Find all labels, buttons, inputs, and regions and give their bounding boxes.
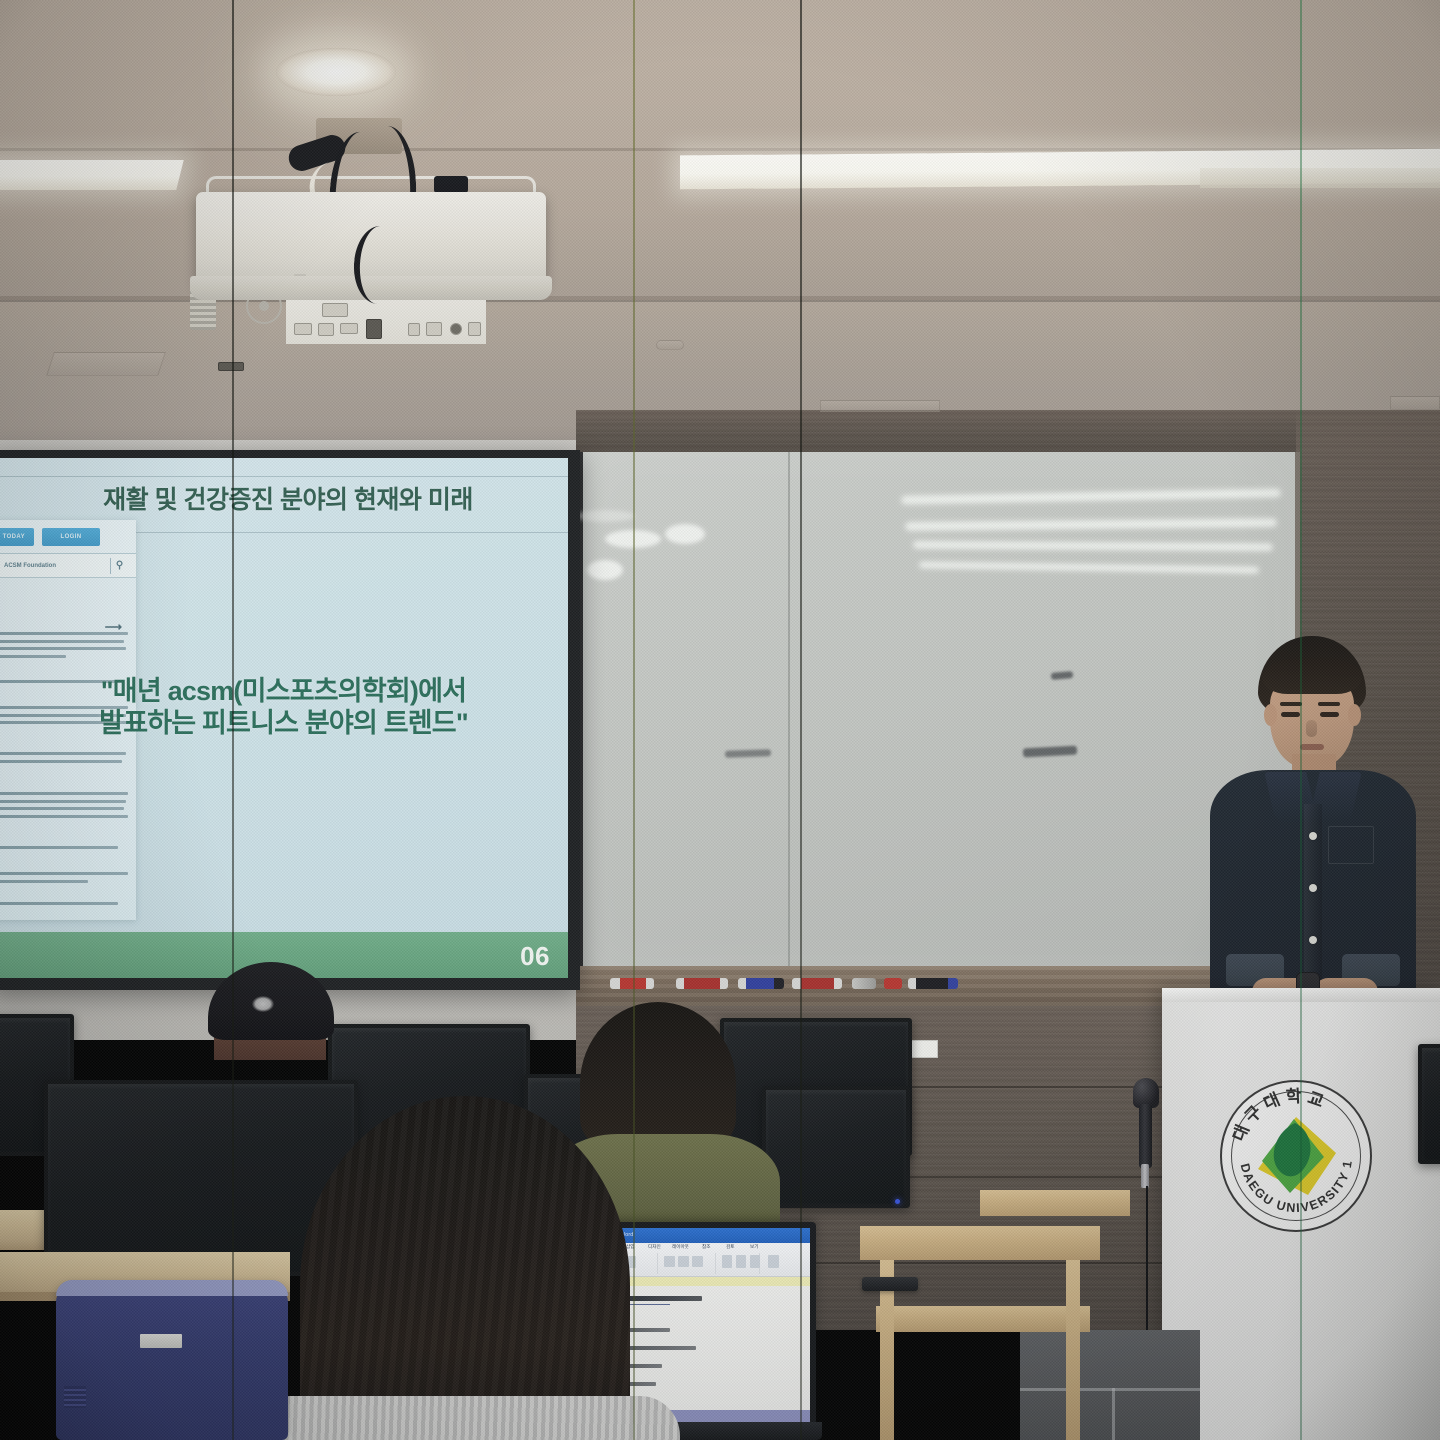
whiteboard-glare-2 <box>665 524 705 544</box>
ribbon-replace-icon[interactable] <box>750 1255 760 1268</box>
presenter-brow-right <box>1318 702 1340 706</box>
presenter-eye-left <box>1281 712 1300 717</box>
recessed-downlight <box>276 48 396 96</box>
port-lan <box>318 323 334 336</box>
microphone-tip <box>1141 1164 1149 1188</box>
ribbon-find-icon[interactable] <box>736 1255 746 1268</box>
cap-logo-icon <box>252 996 274 1012</box>
monitor-power-led <box>895 1199 900 1204</box>
projector-cable-plug <box>434 176 468 193</box>
ribbon-styles-icon[interactable] <box>722 1255 732 1268</box>
port-hdmi-2 <box>340 323 358 334</box>
smartphone-on-desk[interactable] <box>862 1277 918 1291</box>
microphone-body[interactable] <box>1139 1104 1152 1168</box>
marker-blue-1[interactable] <box>738 978 784 989</box>
slide-page-number: 06 <box>520 941 550 972</box>
light-reflection-wave-2 <box>905 518 1277 531</box>
chair-label-sticker <box>140 1334 182 1348</box>
port-usb-1 <box>294 323 312 335</box>
presenter <box>1196 636 1428 1036</box>
whiteboard-smudge-2 <box>1023 746 1077 758</box>
whiteboard-glare-3 <box>587 560 623 580</box>
ribbon-tab-design[interactable]: 디자인 <box>648 1244 661 1250</box>
ceiling-projector <box>196 118 546 308</box>
monitor-right-mid <box>762 1086 910 1208</box>
student-striped-shirt <box>250 1396 680 1440</box>
port-hdmi-1 <box>322 303 348 317</box>
student-olive-hair <box>580 1002 736 1152</box>
light-reflection-wave-3 <box>913 541 1273 552</box>
glass-scan-line-2 <box>633 0 635 1440</box>
floor-tiles <box>1020 1330 1200 1440</box>
ribbon-tab-review[interactable]: 검토 <box>726 1244 734 1250</box>
port-round-2 <box>450 323 462 335</box>
daegu-university-logo: 대 구 대 학 교 DAEGU UNIVERSITY 1956 <box>1220 1080 1372 1232</box>
presenter-ear-left <box>1264 704 1277 726</box>
ribbon-tab-refs[interactable]: 참조 <box>702 1244 710 1250</box>
ribbon-spacing-icon[interactable] <box>692 1256 703 1267</box>
presenter-eye-right <box>1320 712 1339 717</box>
desk-row-far-right <box>980 1190 1130 1216</box>
presenter-nose <box>1306 720 1317 737</box>
port-usb-2 <box>408 323 420 336</box>
svg-text:DAEGU UNIVERSITY 1956: DAEGU UNIVERSITY 1956 <box>1220 1080 1355 1215</box>
shirt-button-2 <box>1309 884 1317 892</box>
glass-scan-line-4 <box>1300 0 1302 1440</box>
projector-ir-sensor <box>218 362 244 371</box>
presentation-slide: 재활 및 건강증진 분야의 현재와 미래 Careers JOIN TODAY … <box>0 458 568 978</box>
desk-leg-right-2 <box>1066 1260 1080 1440</box>
glass-scan-line-3 <box>800 0 802 1440</box>
light-reflection-wave-4 <box>919 561 1259 573</box>
ribbon-align-icon[interactable] <box>664 1256 675 1267</box>
eraser[interactable] <box>852 978 876 989</box>
fluorescent-light-left <box>0 160 184 190</box>
logo-english-text: DAEGU UNIVERSITY 1956 <box>1220 1080 1372 1232</box>
ceiling-vent-far-right <box>1390 396 1440 410</box>
presenter-fringe <box>1262 658 1362 694</box>
ceiling-sprinkler <box>656 340 684 350</box>
port-dark-1 <box>366 319 382 339</box>
port-lan-2 <box>426 322 442 336</box>
marker-red-1[interactable] <box>610 978 654 989</box>
marker-red-4[interactable] <box>884 978 902 989</box>
desk-shelf-right <box>876 1306 1090 1332</box>
whiteboard-smudge-1 <box>1051 671 1074 680</box>
shirt-button-3 <box>1309 936 1317 944</box>
ribbon-tab-view[interactable]: 보기 <box>750 1244 758 1250</box>
light-reflection-wave-1 <box>901 488 1281 504</box>
presenter-mouth <box>1300 744 1324 750</box>
shirt-button-1 <box>1309 832 1317 840</box>
wall-equipment-label <box>908 1040 938 1058</box>
monitor-far-right <box>1418 1044 1440 1164</box>
port-usb-3 <box>468 322 481 336</box>
whiteboard <box>576 452 1300 970</box>
classroom-scene: 재활 및 건강증진 분야의 현재와 미래 Careers JOIN TODAY … <box>0 0 1440 1440</box>
ceiling-air-vent <box>46 352 166 376</box>
marker-red-2[interactable] <box>676 978 728 989</box>
whiteboard-smudge-3 <box>725 749 771 758</box>
whiteboard-glare-4 <box>575 510 635 522</box>
ribbon-select-icon[interactable] <box>768 1255 779 1268</box>
ceiling-vent-right <box>820 400 940 412</box>
desk-row-mid-right <box>860 1226 1100 1260</box>
ribbon-tab-layout[interactable]: 레이아웃 <box>672 1244 689 1250</box>
glass-scan-line-1 <box>232 0 234 1440</box>
chair[interactable] <box>56 1286 288 1440</box>
presenter-ear-right <box>1348 704 1361 726</box>
chair-vent-slots <box>64 1386 86 1408</box>
presenter-shirt-pocket <box>1328 826 1374 864</box>
marker-black-1[interactable] <box>908 978 958 989</box>
presenter-brow-left <box>1280 702 1302 706</box>
ribbon-list-icon[interactable] <box>678 1256 689 1267</box>
projection-screen: 재활 및 건강증진 분야의 현재와 미래 Careers JOIN TODAY … <box>0 450 580 990</box>
fluorescent-light-far <box>1200 168 1440 188</box>
whiteboard-divider <box>788 452 790 970</box>
chair-top-rail <box>56 1280 288 1296</box>
